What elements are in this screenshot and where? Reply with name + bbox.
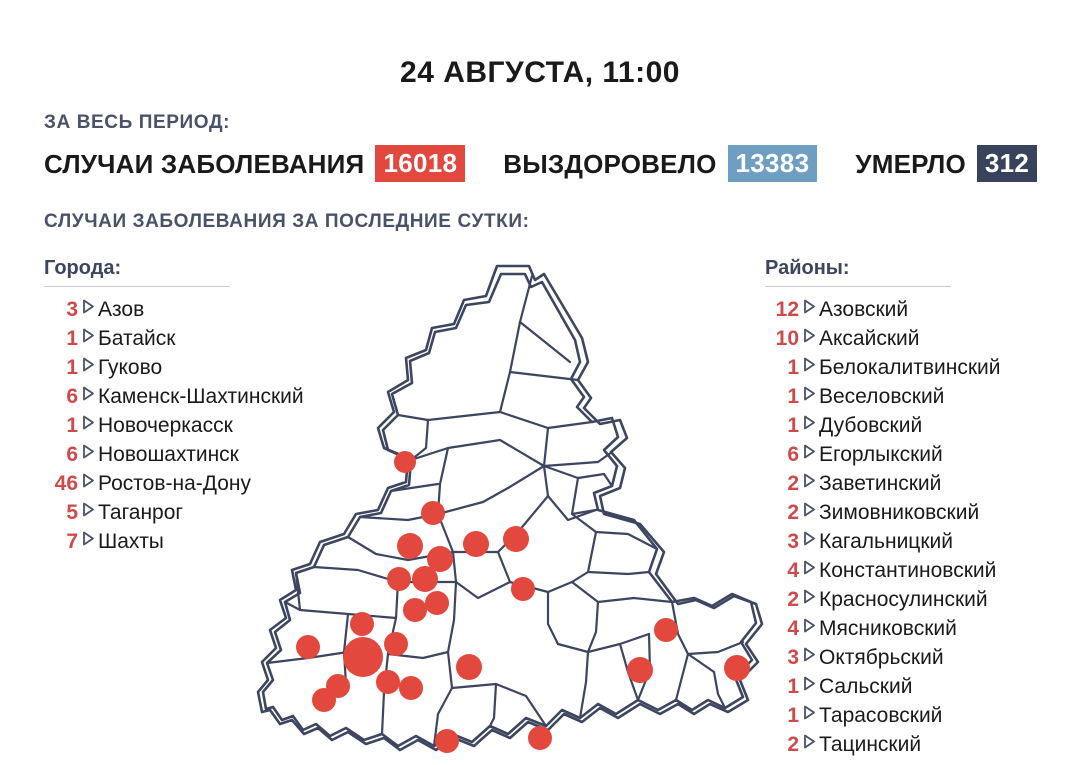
stat-recovered-label: ВЫЗДОРОВЕЛО — [503, 149, 716, 179]
district-list-item-label: Кагальницкий — [819, 527, 953, 556]
city-list-item-count: 1 — [44, 324, 78, 353]
triangle-right-icon — [799, 357, 819, 372]
district-list-item-label: Зимовниковский — [819, 498, 979, 527]
district-list-item-count: 2 — [765, 585, 799, 614]
district-list-item[interactable]: 6Егорлыкский — [765, 440, 1080, 469]
city-list-item-count: 1 — [44, 353, 78, 382]
district-list-item[interactable]: 3Кагальницкий — [765, 527, 1080, 556]
triangle-right-icon — [799, 328, 819, 343]
district-list-item-label: Красносулинский — [819, 585, 988, 614]
city-list-item-label: Новочеркасск — [98, 411, 233, 440]
triangle-right-icon — [799, 444, 819, 459]
district-list-item-count: 1 — [765, 353, 799, 382]
district-list-item-label: Аксайский — [819, 324, 920, 353]
district-list-item[interactable]: 10Аксайский — [765, 324, 1080, 353]
city-list-item-label: Шахты — [98, 527, 164, 556]
city-list-item[interactable]: 3Азов — [44, 295, 344, 324]
district-list-item-label: Азовский — [819, 295, 908, 324]
map-case-dot — [511, 577, 535, 601]
district-list-item-label: Константиновский — [819, 556, 996, 585]
district-list-item-count: 1 — [765, 672, 799, 701]
page-title: 24 АВГУСТА, 11:00 — [0, 0, 1080, 91]
map-case-dot — [463, 531, 489, 557]
city-list-item[interactable]: 1Гуково — [44, 353, 344, 382]
map-case-dot — [503, 526, 529, 552]
map-case-dot — [350, 612, 374, 636]
city-list-item[interactable]: 46Ростов-на-Дону — [44, 469, 344, 498]
city-list-item-count: 7 — [44, 527, 78, 556]
district-list-item[interactable]: 1Тарасовский — [765, 701, 1080, 730]
city-list-item[interactable]: 6Новошахтинск — [44, 440, 344, 469]
triangle-right-icon — [799, 531, 819, 546]
triangle-right-icon — [78, 415, 98, 430]
period-section: ЗА ВЕСЬ ПЕРИОД: СЛУЧАИ ЗАБОЛЕВАНИЯ16018В… — [0, 111, 1080, 182]
cities-column: Города: 3Азов1Батайск1Гуково6Каменск-Шах… — [44, 256, 344, 556]
triangle-right-icon — [799, 502, 819, 517]
stat-cases: СЛУЧАИ ЗАБОЛЕВАНИЯ16018 — [44, 145, 465, 182]
city-list-item[interactable]: 1Батайск — [44, 324, 344, 353]
city-list-item[interactable]: 6Каменск-Шахтинский — [44, 382, 344, 411]
district-list-item-label: Веселовский — [819, 382, 944, 411]
district-list-item[interactable]: 2Зимовниковский — [765, 498, 1080, 527]
city-list-item-label: Каменск-Шахтинский — [98, 382, 304, 411]
map-case-dot — [456, 654, 482, 680]
stat-deaths-label: УМЕРЛО — [855, 149, 966, 179]
district-list-item[interactable]: 4Мясниковский — [765, 614, 1080, 643]
stats-row: СЛУЧАИ ЗАБОЛЕВАНИЯ16018ВЫЗДОРОВЕЛО13383У… — [44, 145, 1080, 182]
map-case-dot — [435, 729, 459, 753]
stat-cases-label: СЛУЧАИ ЗАБОЛЕВАНИЯ — [44, 149, 364, 179]
district-list-item[interactable]: 1Веселовский — [765, 382, 1080, 411]
district-list-item[interactable]: 12Азовский — [765, 295, 1080, 324]
district-list-item-count: 1 — [765, 411, 799, 440]
district-list-item-count: 4 — [765, 556, 799, 585]
triangle-right-icon — [799, 734, 819, 749]
map-case-dot — [343, 637, 383, 677]
triangle-right-icon — [78, 444, 98, 459]
district-list-item-count: 10 — [765, 324, 799, 353]
district-list-item-label: Сальский — [819, 672, 912, 701]
district-list-item-label: Мясниковский — [819, 614, 957, 643]
map-case-dot — [421, 501, 445, 525]
triangle-right-icon — [78, 531, 98, 546]
daily-cases-heading: СЛУЧАИ ЗАБОЛЕВАНИЯ ЗА ПОСЛЕДНИЕ СУТКИ: — [0, 210, 1080, 234]
district-list-item[interactable]: 2Заветинский — [765, 469, 1080, 498]
district-list-item-count: 2 — [765, 498, 799, 527]
triangle-right-icon — [799, 560, 819, 575]
district-list-item-count: 1 — [765, 382, 799, 411]
period-label: ЗА ВЕСЬ ПЕРИОД: — [44, 111, 1080, 135]
city-list-item-count: 6 — [44, 440, 78, 469]
city-list-item-label: Азов — [98, 295, 144, 324]
map-case-dot — [412, 566, 438, 592]
districts-divider — [765, 286, 951, 287]
district-list-item-label: Тарасовский — [819, 701, 942, 730]
districts-column-title: Районы: — [765, 256, 1080, 286]
stat-recovered-value: 13383 — [728, 145, 818, 182]
triangle-right-icon — [799, 705, 819, 720]
map-case-dot — [654, 618, 678, 642]
district-list-item[interactable]: 2Красносулинский — [765, 585, 1080, 614]
triangle-right-icon — [78, 357, 98, 372]
city-list-item-count: 46 — [44, 469, 78, 498]
triangle-right-icon — [799, 676, 819, 691]
triangle-right-icon — [78, 328, 98, 343]
cities-list: 3Азов1Батайск1Гуково6Каменск-Шахтинский1… — [44, 295, 344, 556]
map-case-dot — [326, 674, 350, 698]
map-case-dot — [312, 688, 336, 712]
stat-deaths: УМЕРЛО312 — [855, 145, 1037, 182]
stat-recovered: ВЫЗДОРОВЕЛО13383 — [503, 145, 817, 182]
city-list-item[interactable]: 1Новочеркасск — [44, 411, 344, 440]
district-list-item[interactable]: 1Белокалитвинский — [765, 353, 1080, 382]
district-list-item[interactable]: 1Сальский — [765, 672, 1080, 701]
city-list-item[interactable]: 5Таганрог — [44, 498, 344, 527]
districts-list: 12Азовский10Аксайский1Белокалитвинский1В… — [765, 295, 1080, 759]
district-list-item[interactable]: 4Константиновский — [765, 556, 1080, 585]
city-list-item-label: Гуково — [98, 353, 162, 382]
district-list-item-count: 12 — [765, 295, 799, 324]
map-case-dot — [397, 533, 423, 559]
map-case-dot — [296, 635, 320, 659]
triangle-right-icon — [799, 473, 819, 488]
map-case-dot — [403, 598, 427, 622]
triangle-right-icon — [78, 386, 98, 401]
city-list-item-count: 1 — [44, 411, 78, 440]
stat-cases-value: 16018 — [375, 145, 465, 182]
city-list-item-label: Батайск — [98, 324, 175, 353]
district-list-item-count: 4 — [765, 614, 799, 643]
district-list-item-count: 1 — [765, 701, 799, 730]
triangle-right-icon — [799, 386, 819, 401]
map-case-dot — [384, 632, 408, 656]
city-list-item-label: Новошахтинск — [98, 440, 239, 469]
map-case-dot — [627, 657, 653, 683]
triangle-right-icon — [799, 618, 819, 633]
cities-divider — [44, 286, 230, 287]
district-list-item[interactable]: 1Дубовский — [765, 411, 1080, 440]
district-list-item-count: 3 — [765, 643, 799, 672]
triangle-right-icon — [799, 415, 819, 430]
districts-column: Районы: 12Азовский10Аксайский1Белокалитв… — [765, 256, 1080, 759]
district-list-item-label: Белокалитвинский — [819, 353, 1001, 382]
district-list-item[interactable]: 2Тацинский — [765, 730, 1080, 759]
district-list-item-label: Октябрьский — [819, 643, 944, 672]
district-list-item-label: Заветинский — [819, 469, 941, 498]
city-list-item-label: Таганрог — [98, 498, 183, 527]
district-list-item-label: Егорлыкский — [819, 440, 943, 469]
map-case-dot — [528, 726, 552, 750]
city-list-item-count: 6 — [44, 382, 78, 411]
district-list-item-label: Тацинский — [819, 730, 921, 759]
map-case-dot — [394, 451, 416, 473]
district-list-item[interactable]: 3Октябрьский — [765, 643, 1080, 672]
triangle-right-icon — [799, 647, 819, 662]
city-list-item-label: Ростов-на-Дону — [98, 469, 251, 498]
district-list-item-count: 2 — [765, 730, 799, 759]
stat-deaths-value: 312 — [977, 145, 1037, 182]
map-case-dot — [399, 676, 423, 700]
map-case-dot — [387, 567, 411, 591]
cities-column-title: Города: — [44, 256, 344, 286]
map-case-dot — [425, 591, 449, 615]
district-list-item-count: 6 — [765, 440, 799, 469]
district-list-item-count: 2 — [765, 469, 799, 498]
triangle-right-icon — [78, 502, 98, 517]
map-case-dots — [296, 451, 750, 753]
district-list-item-label: Дубовский — [819, 411, 922, 440]
city-list-item-count: 3 — [44, 295, 78, 324]
triangle-right-icon — [78, 473, 98, 488]
city-list-item-count: 5 — [44, 498, 78, 527]
map-case-dot — [724, 655, 750, 681]
city-list-item[interactable]: 7Шахты — [44, 527, 344, 556]
triangle-right-icon — [78, 299, 98, 314]
triangle-right-icon — [799, 299, 819, 314]
map-case-dot — [427, 546, 453, 572]
district-list-item-count: 3 — [765, 527, 799, 556]
triangle-right-icon — [799, 589, 819, 604]
map-case-dot — [376, 670, 400, 694]
